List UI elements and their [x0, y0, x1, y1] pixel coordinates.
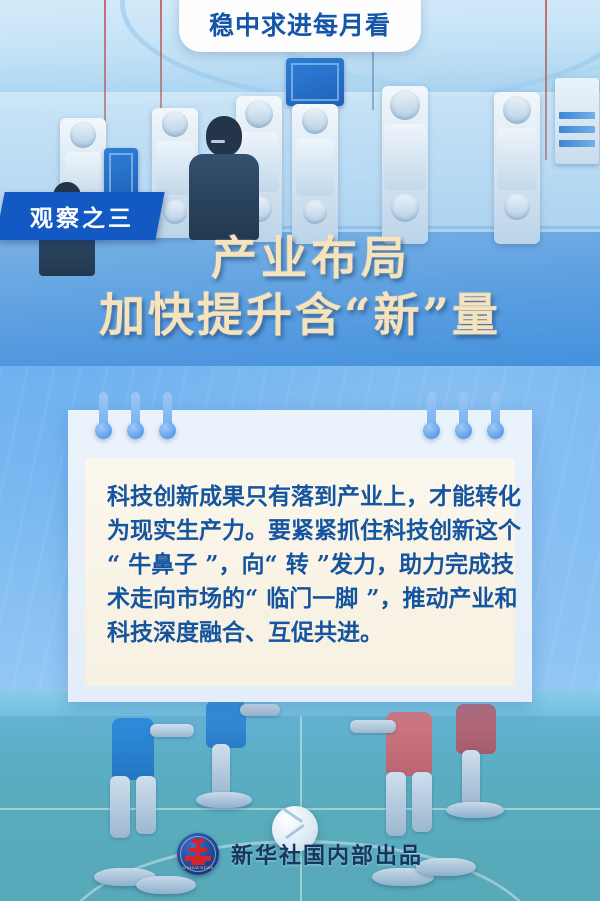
- suspended-robot: [292, 104, 338, 244]
- quote-line: 术走向市场的“ 临门一脚 ”，推动产业和: [107, 582, 495, 616]
- section-banner-label: 观察之三: [30, 199, 134, 233]
- poster-root: 稳中求进每月看 观察之三 产业布局 加快提升含“新”量 科技创新成果只有落到产业…: [0, 0, 600, 901]
- quote-card: 科技创新成果只有落到产业上，才能转化 为现实生产力。要紧紧抓住科技创新这个 “ …: [68, 410, 532, 702]
- blue-panel-display: [286, 58, 344, 106]
- worker-standing: [185, 116, 263, 236]
- quote-panel: 科技创新成果只有落到产业上，才能转化 为现实生产力。要紧紧抓住科技创新这个 “ …: [85, 458, 515, 686]
- equipment-rack: [555, 78, 599, 164]
- footer: XINHUA NEWS 新华社国内部出品: [0, 833, 600, 875]
- quote-line: “ 牛鼻子 ”，向“ 转 ”发力，助力完成技: [107, 548, 495, 582]
- quote-line: 科技深度融合、互促共进。: [107, 616, 495, 650]
- quote-line: 科技创新成果只有落到产业上，才能转化: [107, 480, 495, 514]
- main-title: 产业布局 加快提升含“新”量: [0, 234, 600, 340]
- xinhua-logo-icon: XINHUA NEWS: [177, 833, 219, 875]
- soccer-robot-background: [190, 700, 280, 820]
- title-line-2: 加快提升含“新”量: [0, 291, 600, 340]
- suspended-robot: [494, 92, 540, 244]
- quote-line: 为现实生产力。要紧紧抓住科技创新这个: [107, 514, 495, 548]
- section-banner: 观察之三: [0, 192, 165, 240]
- soccer-robot-background: [438, 704, 530, 832]
- top-tab-banner: 稳中求进每月看: [179, 0, 421, 52]
- hanging-cable: [545, 0, 547, 160]
- logo-arc-text: XINHUA NEWS: [177, 865, 219, 870]
- footer-label: 新华社国内部出品: [231, 838, 423, 870]
- title-line-1: 产业布局: [0, 234, 600, 283]
- suspended-robot: [382, 86, 428, 244]
- card-pins: [68, 392, 532, 456]
- top-tab-label: 稳中求进每月看: [209, 6, 391, 42]
